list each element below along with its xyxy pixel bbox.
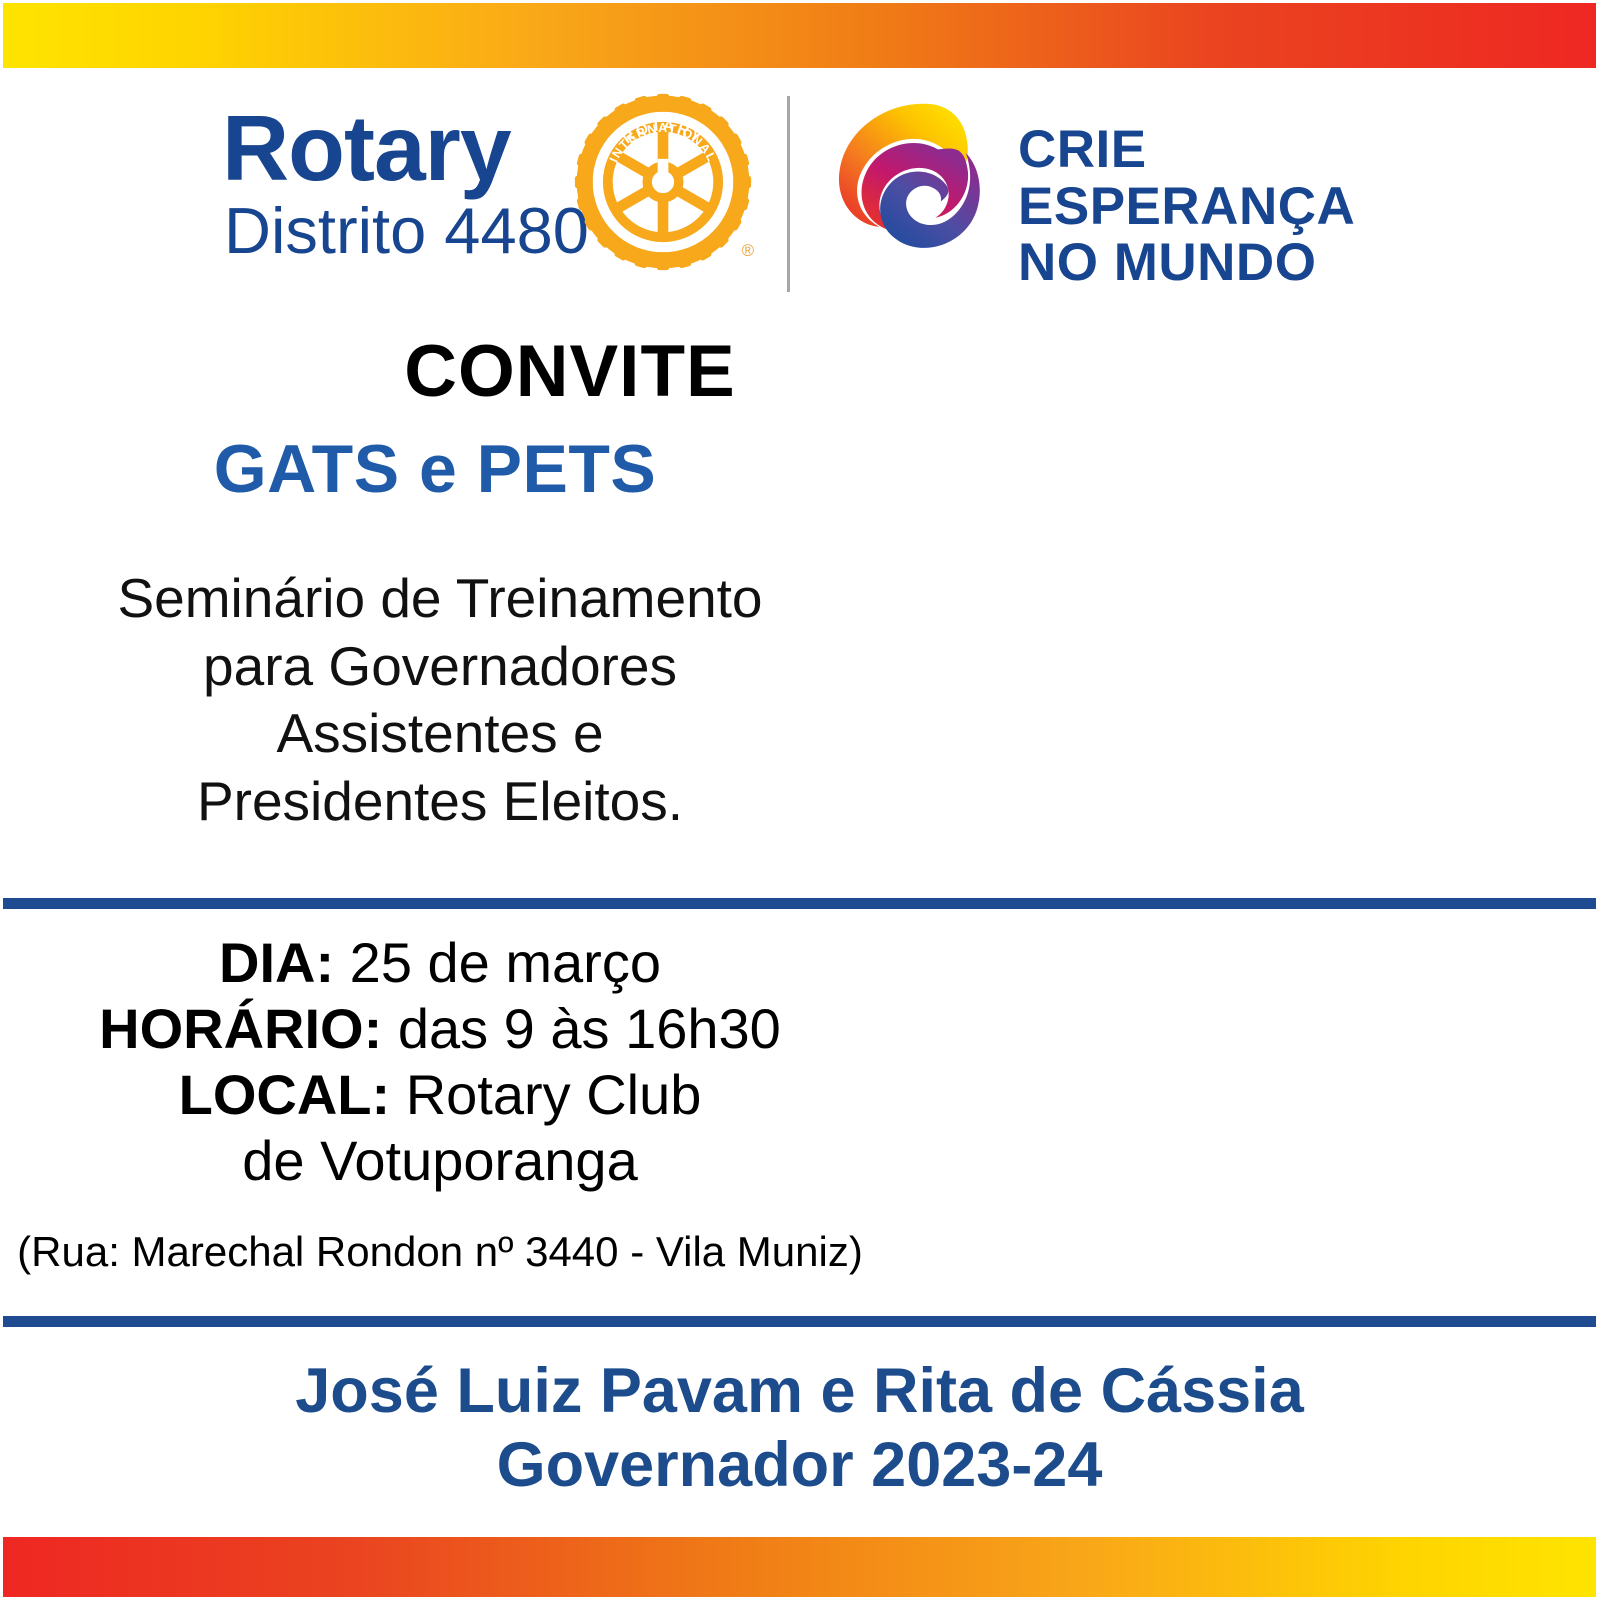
rotary-theme-logo: CRIE ESPERANÇA NO MUNDO	[820, 88, 1420, 283]
top-gradient-bar	[3, 3, 1596, 68]
detail-row-dia: DIA: 25 de março	[0, 930, 880, 996]
event-address: (Rua: Marechal Rondon nº 3440 - Vila Mun…	[0, 1228, 880, 1276]
event-details: DIA: 25 de março HORÁRIO: das 9 às 16h30…	[0, 930, 880, 1194]
detail-row-local: LOCAL: Rotary Club	[0, 1062, 880, 1128]
detail-value-horario: das 9 às 16h30	[382, 997, 781, 1060]
governor-role: Governador 2023-24	[0, 1429, 1599, 1503]
detail-value-local-line2: de Votuporanga	[0, 1128, 880, 1194]
detail-row-horario: HORÁRIO: das 9 às 16h30	[0, 996, 880, 1062]
event-description: Seminário de Treinamento para Governador…	[30, 565, 850, 836]
rotary-district-logo: Rotary Distrito 4480	[222, 86, 762, 284]
logo-divider	[787, 96, 790, 292]
divider-rule-bottom	[3, 1316, 1596, 1327]
page-title: CONVITE	[0, 330, 1140, 413]
detail-value-dia: 25 de março	[334, 931, 661, 994]
header-logos: Rotary Distrito 4480	[0, 78, 1599, 293]
rotary-wheel-icon: ROTARY INTERNATIONAL ®	[574, 93, 752, 271]
detail-label-horario: HORÁRIO:	[99, 997, 382, 1060]
event-description-line-1: Seminário de Treinamento	[30, 565, 850, 633]
detail-label-dia: DIA:	[219, 931, 334, 994]
rotary-district-label: Distrito 4480	[224, 198, 589, 263]
governor-names: José Luiz Pavam e Rita de Cássia	[0, 1355, 1599, 1429]
registered-trademark-icon: ®	[741, 241, 754, 261]
crie-esperanca-swirl-icon	[820, 90, 1000, 270]
rotary-wordmark: Rotary	[222, 102, 511, 195]
event-description-line-2: para Governadores	[30, 633, 850, 701]
footer-signature: José Luiz Pavam e Rita de Cássia Governa…	[0, 1355, 1599, 1502]
detail-value-local: Rotary Club	[390, 1063, 701, 1126]
poster-canvas: Rotary Distrito 4480	[0, 0, 1599, 1600]
bottom-gradient-bar	[3, 1537, 1596, 1597]
event-subtitle: GATS e PETS	[0, 430, 870, 508]
theme-slogan-line-1: CRIE ESPERANÇA	[1018, 122, 1420, 235]
event-description-line-3: Assistentes e	[30, 700, 850, 768]
event-description-line-4: Presidentes Eleitos.	[30, 768, 850, 836]
governor-couple-photo	[872, 358, 1590, 1326]
theme-slogan-line-2: NO MUNDO	[1018, 235, 1420, 292]
divider-rule-top	[3, 898, 1596, 909]
theme-slogan: CRIE ESPERANÇA NO MUNDO	[1018, 122, 1420, 292]
detail-label-local: LOCAL:	[179, 1063, 391, 1126]
